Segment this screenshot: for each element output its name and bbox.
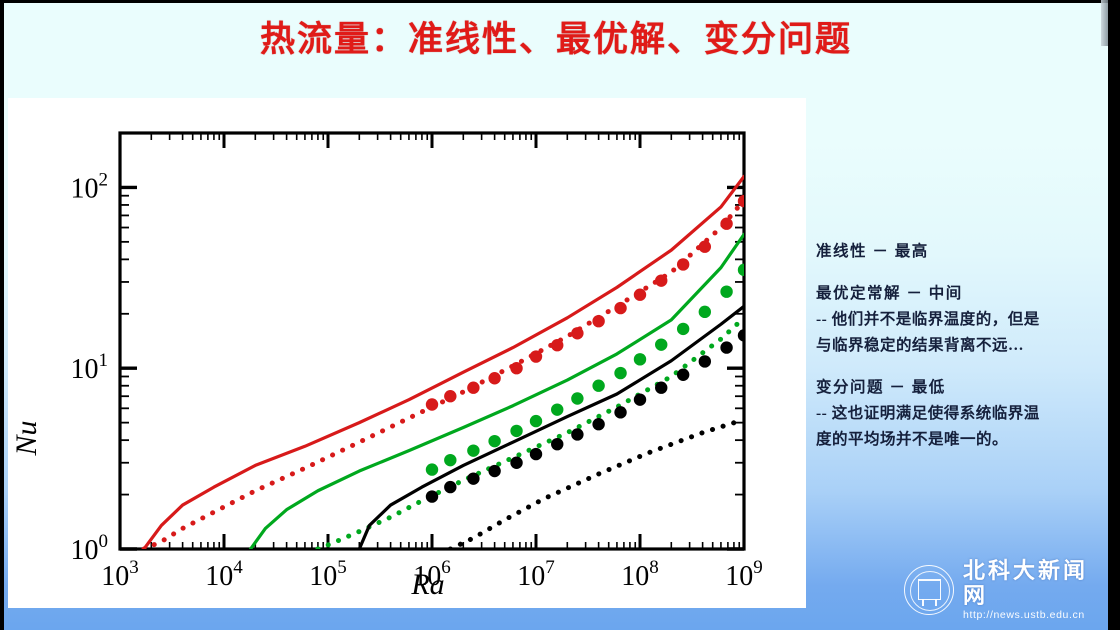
data-point-quasilinear-data (444, 390, 456, 402)
data-point-quasilinear-data (510, 362, 522, 374)
data-point-variational-data (634, 393, 646, 405)
top-right-sliver (1101, 0, 1108, 46)
data-point-optimal-steady-data (467, 444, 479, 456)
data-point-variational-data (530, 448, 542, 460)
logo-name: 北科大新闻网 (963, 558, 1104, 608)
page-title: 热流量：准线性、最优解、变分问题 (4, 11, 1108, 62)
data-point-variational-data (699, 355, 711, 367)
data-point-quasilinear-data (699, 241, 711, 253)
note-heading: 变分问题 － 最低 (816, 375, 1102, 401)
data-point-optimal-steady-data (677, 323, 689, 335)
data-point-variational-data (444, 481, 456, 493)
data-point-variational-data (510, 457, 522, 469)
data-point-variational-data (426, 490, 438, 502)
data-point-optimal-steady-data (444, 454, 456, 466)
data-point-optimal-steady-data (699, 306, 711, 318)
note-block-0: 准线性 － 最高 (816, 239, 1102, 265)
data-point-optimal-steady-data (592, 380, 604, 392)
note-block-1: 最优定常解 － 中间-- 他们并不是临界温度的，但是与临界稳定的结果背离不远… (816, 281, 1102, 359)
data-point-quasilinear-data (530, 350, 542, 362)
data-point-variational-data (467, 472, 479, 484)
y-axis-label: Nu (10, 420, 43, 456)
note-heading: 准线性 － 最高 (816, 239, 1102, 265)
data-point-optimal-steady-data (488, 435, 500, 447)
data-point-optimal-steady-data (720, 285, 732, 297)
note-line: 度的平均场并不是唯一的。 (816, 427, 1102, 453)
note-line: -- 他们并不是临界温度的，但是 (816, 307, 1102, 333)
slide-canvas: 热流量：准线性、最优解、变分问题 10310410510610710810910… (4, 3, 1108, 630)
data-point-quasilinear-data (634, 289, 646, 301)
nusselt-rayleigh-chart: 103104105106107108109100101102 Ra Nu (8, 98, 806, 608)
annotation-notes: 准线性 － 最高最优定常解 － 中间-- 他们并不是临界温度的，但是与临界稳定的… (816, 239, 1102, 469)
data-point-variational-data (614, 406, 626, 418)
watermark-logo: 北科大新闻网 http://news.ustb.edu.cn (904, 559, 1104, 621)
data-point-optimal-steady-data (571, 392, 583, 404)
note-heading: 最优定常解 － 中间 (816, 281, 1102, 307)
x-axis-label: Ra (410, 568, 444, 601)
data-point-quasilinear-data (614, 302, 626, 314)
note-line: 与临界稳定的结果背离不远… (816, 333, 1102, 359)
data-point-variational-data (720, 341, 732, 353)
data-point-quasilinear-data (571, 327, 583, 339)
data-point-optimal-steady-data (614, 367, 626, 379)
data-point-optimal-steady-data (426, 463, 438, 475)
note-line: -- 这也证明满足使得系统临界温 (816, 401, 1102, 427)
data-point-variational-data (592, 418, 604, 430)
data-point-optimal-steady-data (530, 415, 542, 427)
logo-url: http://news.ustb.edu.cn (963, 608, 1104, 623)
ding-vessel-icon (918, 579, 941, 600)
data-point-quasilinear-data (467, 382, 479, 394)
data-point-optimal-steady-data (634, 353, 646, 365)
data-point-optimal-steady-data (551, 403, 563, 415)
data-point-quasilinear-data (592, 315, 604, 327)
data-point-quasilinear-data (488, 372, 500, 384)
data-point-quasilinear-data (551, 339, 563, 351)
data-point-variational-data (571, 428, 583, 440)
data-point-quasilinear-data (720, 217, 732, 229)
ustb-seal-icon (904, 565, 954, 615)
data-point-quasilinear-data (655, 274, 667, 286)
figure-panel: 103104105106107108109100101102 Ra Nu (8, 98, 806, 608)
right-black-bar (1108, 0, 1120, 630)
data-point-variational-data (655, 382, 667, 394)
data-point-quasilinear-data (677, 258, 689, 270)
data-point-variational-data (551, 438, 563, 450)
data-point-variational-data (488, 465, 500, 477)
data-point-variational-data (677, 369, 689, 381)
data-point-quasilinear-data (426, 398, 438, 410)
note-block-2: 变分问题 － 最低-- 这也证明满足使得系统临界温度的平均场并不是唯一的。 (816, 375, 1102, 453)
data-point-optimal-steady-data (510, 425, 522, 437)
data-point-optimal-steady-data (655, 338, 667, 350)
